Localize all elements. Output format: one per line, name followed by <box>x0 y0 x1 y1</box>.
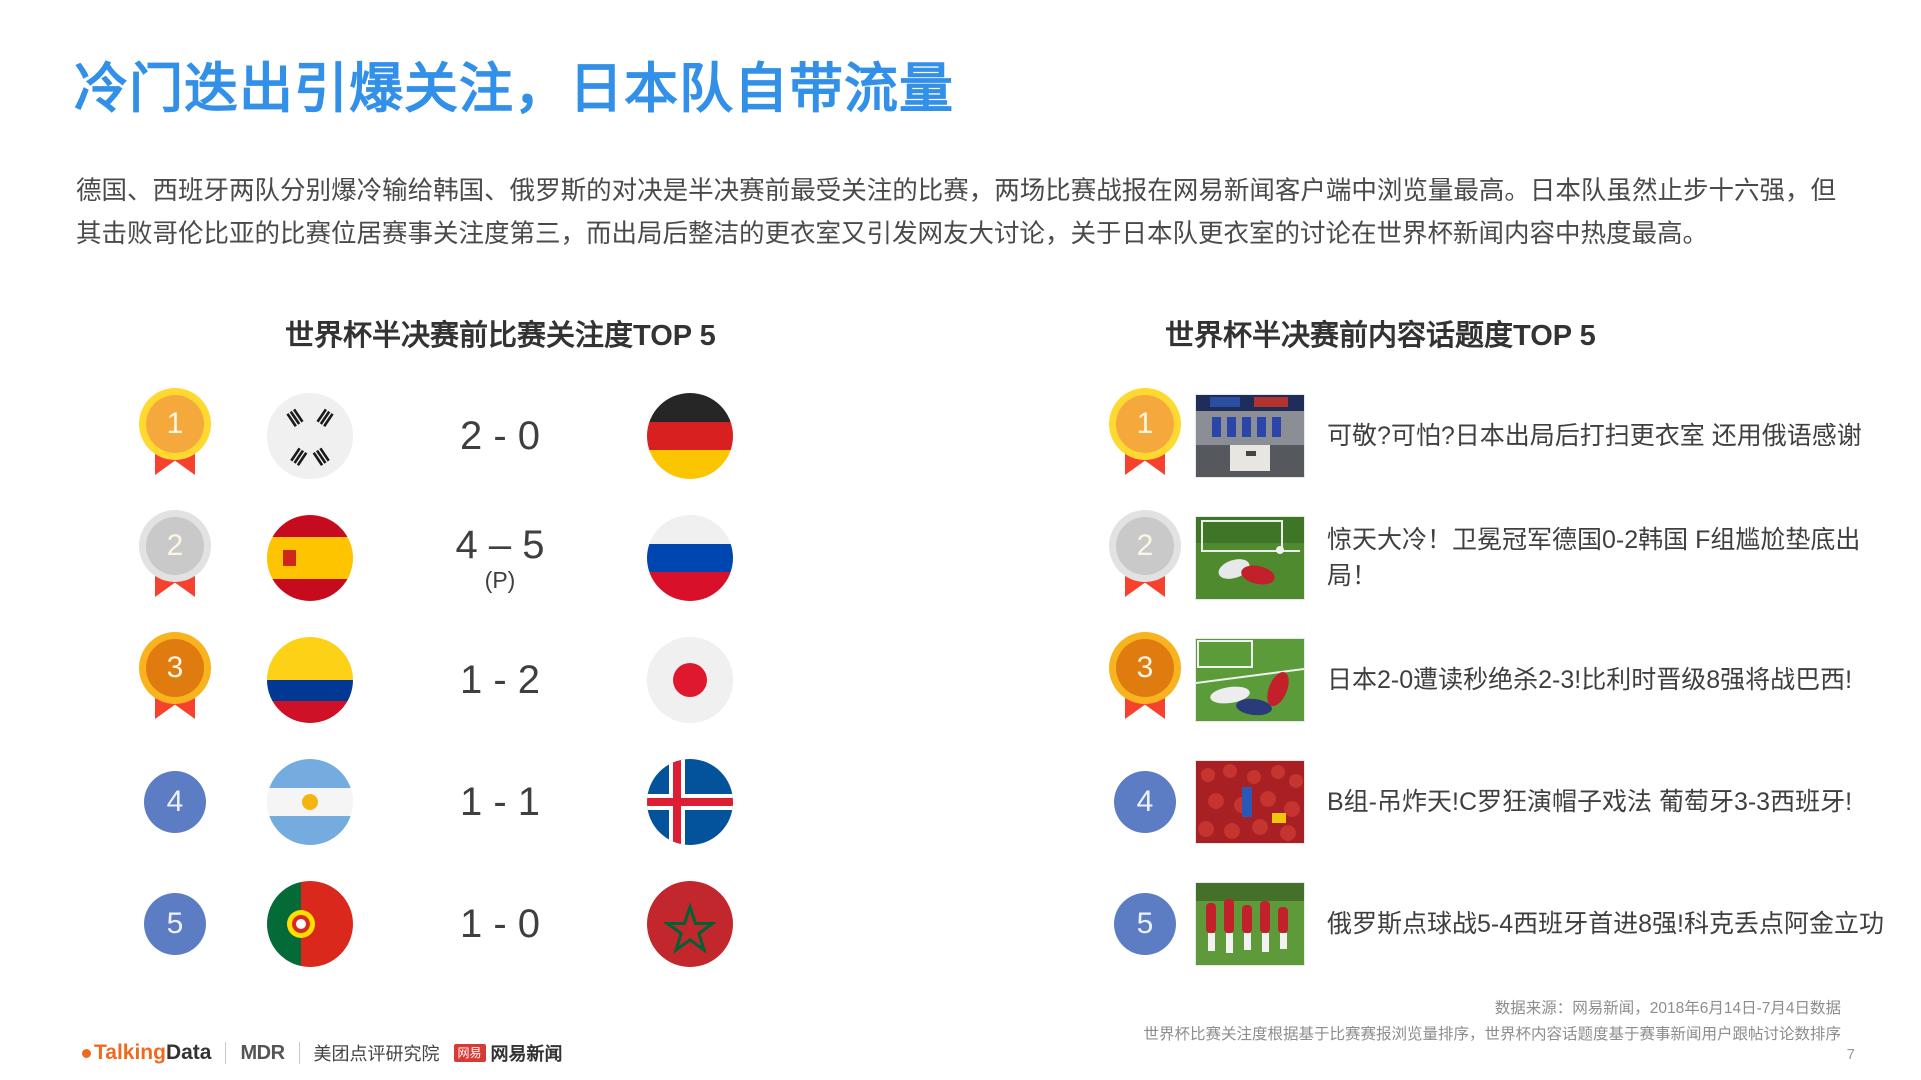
talkingdata-dot-icon <box>82 1049 91 1058</box>
home-flag-cell <box>230 637 390 723</box>
locker-room-photo[interactable] <box>1195 394 1305 478</box>
talkingdata-logo: Talking Data <box>82 1041 211 1065</box>
score-cell: 2 - 0 <box>390 415 610 457</box>
morocco-flag-icon <box>647 881 733 967</box>
medal-badge-gold: 1 <box>146 395 204 477</box>
meituan-research-logo: 美团点评研究院 <box>314 1040 440 1066</box>
rank-cell: 3 <box>120 639 230 721</box>
japan-flag-icon <box>647 637 733 723</box>
germany-flag-icon <box>647 393 733 479</box>
left-panel-heading: 世界杯半决赛前比赛关注度TOP 5 <box>285 312 716 354</box>
rank-cell: 3 <box>1095 639 1195 721</box>
table-row[interactable]: 3 1 - 2 <box>120 619 960 741</box>
logo-divider <box>299 1042 300 1064</box>
away-flag-cell <box>610 881 770 967</box>
medal-badge-bronze: 3 <box>1116 639 1174 721</box>
list-item[interactable]: 3 日本2-0遭读秒绝杀2-3!比利时晋级8强将战巴西! <box>1095 619 1895 741</box>
table-row[interactable]: 4 1 - 1 <box>120 741 960 863</box>
list-item-title: 可敬?可怕?日本出局后打扫更衣室 还用俄语感谢 <box>1327 418 1862 454</box>
red-crowd-photo[interactable] <box>1195 760 1305 844</box>
medal-badge-silver: 2 <box>1116 517 1174 599</box>
talkingdata-suffix: Data <box>166 1041 212 1065</box>
japan-defeat-photo[interactable] <box>1195 638 1305 722</box>
rank-cell: 2 <box>120 517 230 599</box>
right-panel-heading: 世界杯半决赛前内容话题度TOP 5 <box>1165 312 1596 354</box>
intro-paragraph: 德国、西班牙两队分别爆冷输给韩国、俄罗斯的对决是半决赛前最受关注的比赛，两场比赛… <box>76 170 1836 256</box>
medal-disc: 3 <box>146 639 204 697</box>
score-note: (P) <box>390 568 610 592</box>
away-flag-cell <box>610 759 770 845</box>
rank-cell: 4 <box>1095 771 1195 833</box>
away-flag-cell <box>610 637 770 723</box>
list-item-title: B组-吊炸天!C罗狂演帽子戏法 葡萄牙3-3西班牙! <box>1327 784 1852 820</box>
medal-disc: 2 <box>1116 517 1174 575</box>
medal-disc: 1 <box>146 395 204 453</box>
netease-news-logo: 网易 网易新闻 <box>454 1040 563 1066</box>
table-row[interactable]: 5 1 - 0 <box>120 863 960 985</box>
score-value: 4 – 5 <box>456 523 545 567</box>
table-row[interactable]: 2 4 – 5 (P) <box>120 497 960 619</box>
russia-flag-icon <box>647 515 733 601</box>
score-cell: 1 - 0 <box>390 903 610 945</box>
talkingdata-prefix: Talking <box>94 1041 166 1065</box>
rank-cell: 4 <box>120 771 230 833</box>
list-item[interactable]: 5 俄罗斯点球战5-4西班牙首进8强!科克丢点阿金立功 <box>1095 863 1895 985</box>
logo-divider <box>225 1042 226 1064</box>
celebration-photo[interactable] <box>1195 882 1305 966</box>
page-title: 冷门迭出引爆关注，日本队自带流量 <box>74 58 954 120</box>
score-cell: 1 - 2 <box>390 659 610 701</box>
argentina-flag-icon <box>267 759 353 845</box>
away-flag-cell <box>610 393 770 479</box>
score-cell: 4 – 5 (P) <box>390 524 610 592</box>
list-item[interactable]: 4 B组-吊炸天!C罗狂演帽子戏法 葡萄牙3-3西班牙! <box>1095 741 1895 863</box>
score-value: 1 - 2 <box>460 658 540 702</box>
netease-mark-icon: 网易 <box>454 1044 486 1062</box>
medal-disc: 2 <box>146 517 204 575</box>
score-value: 1 - 0 <box>460 902 540 946</box>
home-flag-cell <box>230 515 390 601</box>
medal-badge-silver: 2 <box>146 517 204 599</box>
medal-badge-bronze: 3 <box>146 639 204 721</box>
source-line-2: 世界杯比赛关注度根据基于比赛赛报浏览量排序，世界杯内容话题度基于赛事新闻用户跟帖… <box>1143 1022 1841 1048</box>
rank-cell: 5 <box>1095 893 1195 955</box>
medal-disc: 3 <box>1116 639 1174 697</box>
colombia-flag-icon <box>267 637 353 723</box>
list-item-title: 惊天大冷！卫冕冠军德国0-2韩国 F组尴尬垫底出局！ <box>1327 522 1887 594</box>
source-line-1: 数据来源：网易新闻，2018年6月14日-7月4日数据 <box>1143 996 1841 1022</box>
home-flag-cell <box>230 759 390 845</box>
table-row[interactable]: 1 <box>120 375 960 497</box>
portugal-flag-icon <box>267 881 353 967</box>
goal-save-photo[interactable] <box>1195 516 1305 600</box>
home-flag-cell <box>230 393 390 479</box>
page-number: 7 <box>1847 1046 1855 1063</box>
rank-cell: 1 <box>120 395 230 477</box>
match-list: 1 <box>120 375 960 985</box>
medal-disc: 1 <box>1116 395 1174 453</box>
footer-logos: Talking Data MDR 美团点评研究院 网易 网易新闻 <box>82 1040 563 1066</box>
rank-circle: 5 <box>1114 893 1176 955</box>
score-cell: 1 - 1 <box>390 781 610 823</box>
rank-cell: 5 <box>120 893 230 955</box>
rank-circle: 4 <box>144 771 206 833</box>
list-item-title: 日本2-0遭读秒绝杀2-3!比利时晋级8强将战巴西! <box>1327 662 1852 698</box>
netease-label: 网易新闻 <box>491 1040 563 1066</box>
topic-list: 1 可敬?可怕?日本出局后打扫更衣室 还用俄语感谢 2 <box>1095 375 1895 985</box>
away-flag-cell <box>610 515 770 601</box>
medal-badge-gold: 1 <box>1116 395 1174 477</box>
south-korea-flag-icon <box>267 393 353 479</box>
rank-circle: 4 <box>1114 771 1176 833</box>
mdr-logo: MDR <box>240 1042 284 1065</box>
source-note: 数据来源：网易新闻，2018年6月14日-7月4日数据 世界杯比赛关注度根据基于… <box>1143 996 1841 1048</box>
home-flag-cell <box>230 881 390 967</box>
score-value: 2 - 0 <box>460 414 540 458</box>
slide-root: 冷门迭出引爆关注，日本队自带流量 德国、西班牙两队分别爆冷输给韩国、俄罗斯的对决… <box>0 0 1921 1080</box>
rank-circle: 5 <box>144 893 206 955</box>
list-item[interactable]: 2 惊天大冷！卫冕冠军德国0-2韩国 F组尴尬垫底出局！ <box>1095 497 1895 619</box>
rank-cell: 2 <box>1095 517 1195 599</box>
list-item-title: 俄罗斯点球战5-4西班牙首进8强!科克丢点阿金立功 <box>1327 906 1884 942</box>
iceland-flag-icon <box>647 759 733 845</box>
spain-flag-icon <box>267 515 353 601</box>
list-item[interactable]: 1 可敬?可怕?日本出局后打扫更衣室 还用俄语感谢 <box>1095 375 1895 497</box>
score-value: 1 - 1 <box>460 780 540 824</box>
rank-cell: 1 <box>1095 395 1195 477</box>
